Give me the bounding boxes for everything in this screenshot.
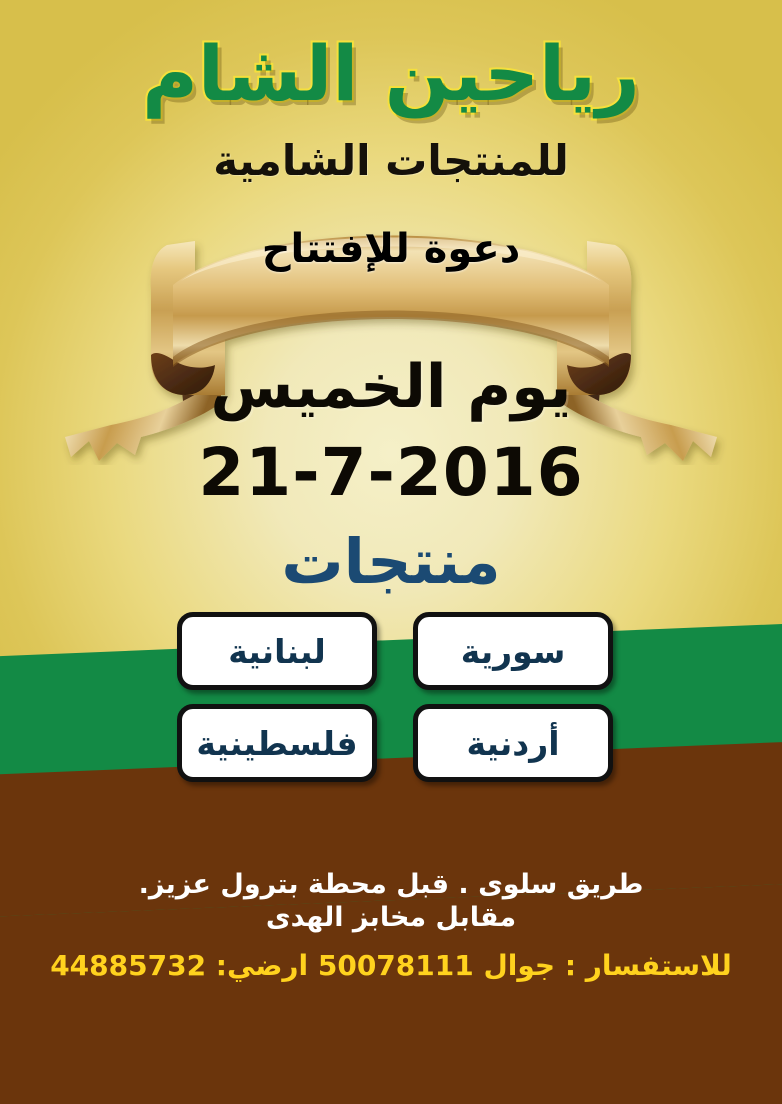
event-day: يوم الخميس	[0, 352, 782, 422]
contact-landline-number[interactable]: 44885732	[50, 949, 206, 982]
products-heading: منتجات	[0, 531, 782, 593]
product-box-palestinian: فلسطينية	[177, 704, 377, 782]
address-block: طريق سلوى . قبل محطة بترول عزيز. مقابل م…	[0, 868, 782, 935]
address-line-2: مقابل مخابز الهدى	[0, 901, 782, 934]
page-title: رياحين الشام	[0, 34, 782, 114]
contact-line: للاستفسار : جوال 50078111 ارضي: 44885732	[0, 951, 782, 982]
ribbon-banner-icon	[55, 205, 727, 465]
event-date: 21-7-2016	[0, 434, 782, 511]
contact-mobile-number[interactable]: 50078111	[318, 949, 474, 982]
product-box-lebanese: لبنانية	[177, 612, 377, 690]
products-grid: لبنانية سورية فلسطينية أردنية	[177, 612, 613, 796]
address-line-1: طريق سلوى . قبل محطة بترول عزيز.	[0, 868, 782, 901]
page-subtitle: للمنتجات الشامية	[0, 136, 782, 185]
contact-prefix: للاستفسار : جوال	[483, 949, 731, 982]
product-row: لبنانية سورية	[177, 612, 613, 690]
product-row: فلسطينية أردنية	[177, 704, 613, 782]
contact-landline-label: ارضي:	[216, 949, 308, 982]
poster-root: رياحين الشام للمنتجات الشامية	[0, 0, 782, 1104]
product-box-syrian: سورية	[413, 612, 613, 690]
product-box-jordanian: أردنية	[413, 704, 613, 782]
